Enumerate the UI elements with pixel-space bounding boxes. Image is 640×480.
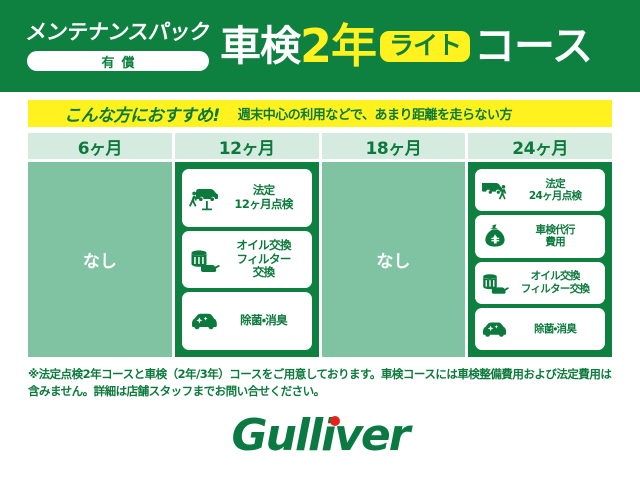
service-item: オイル交換 フィルター交換: [475, 262, 605, 304]
paid-pill: 有償: [27, 51, 209, 71]
column-header-label: 6ヶ月: [78, 134, 122, 159]
column-12months: 12ヶ月: [175, 133, 319, 357]
header-course-group: 車検2年ライトコース: [218, 23, 640, 69]
recommend-label: こんな方におすすめ!: [64, 101, 220, 126]
car-inspection-icon: [480, 175, 510, 205]
column-body-24months: 法定 24ヶ月点検 車検代行 費用: [468, 162, 612, 357]
logo-red-dot-icon: [330, 416, 340, 426]
service-item: 除菌・消臭: [182, 292, 312, 350]
service-item-label: 法定 24ヶ月点検: [510, 178, 600, 203]
paid-pill-label: 有償: [94, 52, 141, 71]
car-on-lift-icon: [187, 183, 221, 213]
course-term-label: 2年: [300, 23, 376, 69]
money-bag-yen-icon: [480, 221, 510, 251]
recommend-banner: こんな方におすすめ! 週末中心の利用などで、あまり距離を走らない方: [28, 100, 612, 127]
service-item: 法定 24ヶ月点検: [475, 169, 605, 211]
footnote-text: ※法定点検2年コースと車検（2年/3年）コースをご用意しております。車検コースに…: [28, 366, 616, 399]
course-suffix-label: コース: [474, 26, 592, 67]
service-item-label: オイル交換 フィルター 交換: [221, 239, 307, 280]
service-item: 車検代行 費用: [475, 215, 605, 257]
column-header-18months: 18ヶ月: [322, 133, 466, 159]
service-item-label: オイル交換 フィルター交換: [510, 270, 600, 295]
column-24months: 24ヶ月: [468, 133, 612, 357]
service-item-label: 除菌・消臭: [510, 323, 600, 335]
column-6months: 6ヶ月 なし: [28, 133, 172, 357]
column-body-6months: なし: [28, 162, 172, 357]
course-inspection-label: 車検: [220, 26, 300, 67]
brand-logo: Gulliver: [0, 414, 640, 458]
service-item-label: 車検代行 費用: [510, 224, 600, 249]
service-item: 法定 12ヶ月点検: [182, 169, 312, 227]
schedule-table: 6ヶ月 なし 12ヶ月: [28, 133, 612, 357]
header-left-group: メンテナンスパック 有償: [0, 21, 218, 71]
column-18months: 18ヶ月 なし: [322, 133, 466, 357]
column-header-24months: 24ヶ月: [468, 133, 612, 159]
column-header-6months: 6ヶ月: [28, 133, 172, 159]
lite-badge: ライト: [380, 31, 470, 62]
oil-filter-can-icon: [480, 268, 510, 298]
service-item: 除菌・消臭: [475, 308, 605, 350]
maintenance-pack-title: メンテナンスパック: [24, 21, 211, 44]
column-header-label: 18ヶ月: [366, 134, 422, 159]
recommend-description: 週末中心の利用などで、あまり距離を走らない方: [238, 104, 512, 123]
column-header-label: 12ヶ月: [219, 134, 275, 159]
service-item-label: 法定 12ヶ月点検: [221, 184, 307, 211]
maintenance-pack-poster: メンテナンスパック 有償 車検2年ライトコース こんな方におすすめ! 週末中心の…: [0, 0, 640, 480]
none-label-18months: なし: [376, 247, 410, 272]
brand-logo-label: Gulliver: [232, 410, 409, 461]
column-header-label: 24ヶ月: [512, 134, 568, 159]
none-label-6months: なし: [83, 247, 117, 272]
oil-filter-can-icon: [187, 245, 221, 275]
column-body-12months: 法定 12ヶ月点検: [175, 162, 319, 357]
service-item: オイル交換 フィルター 交換: [182, 231, 312, 289]
column-body-18months: なし: [322, 162, 466, 357]
sparkle-car-icon: [480, 314, 510, 344]
header-banner: メンテナンスパック 有償 車検2年ライトコース: [0, 0, 640, 92]
column-header-12months: 12ヶ月: [175, 133, 319, 159]
service-item-label: 除菌・消臭: [221, 314, 307, 328]
sparkle-car-icon: [187, 306, 221, 336]
brand-logo-text: Gulliver: [232, 414, 409, 458]
